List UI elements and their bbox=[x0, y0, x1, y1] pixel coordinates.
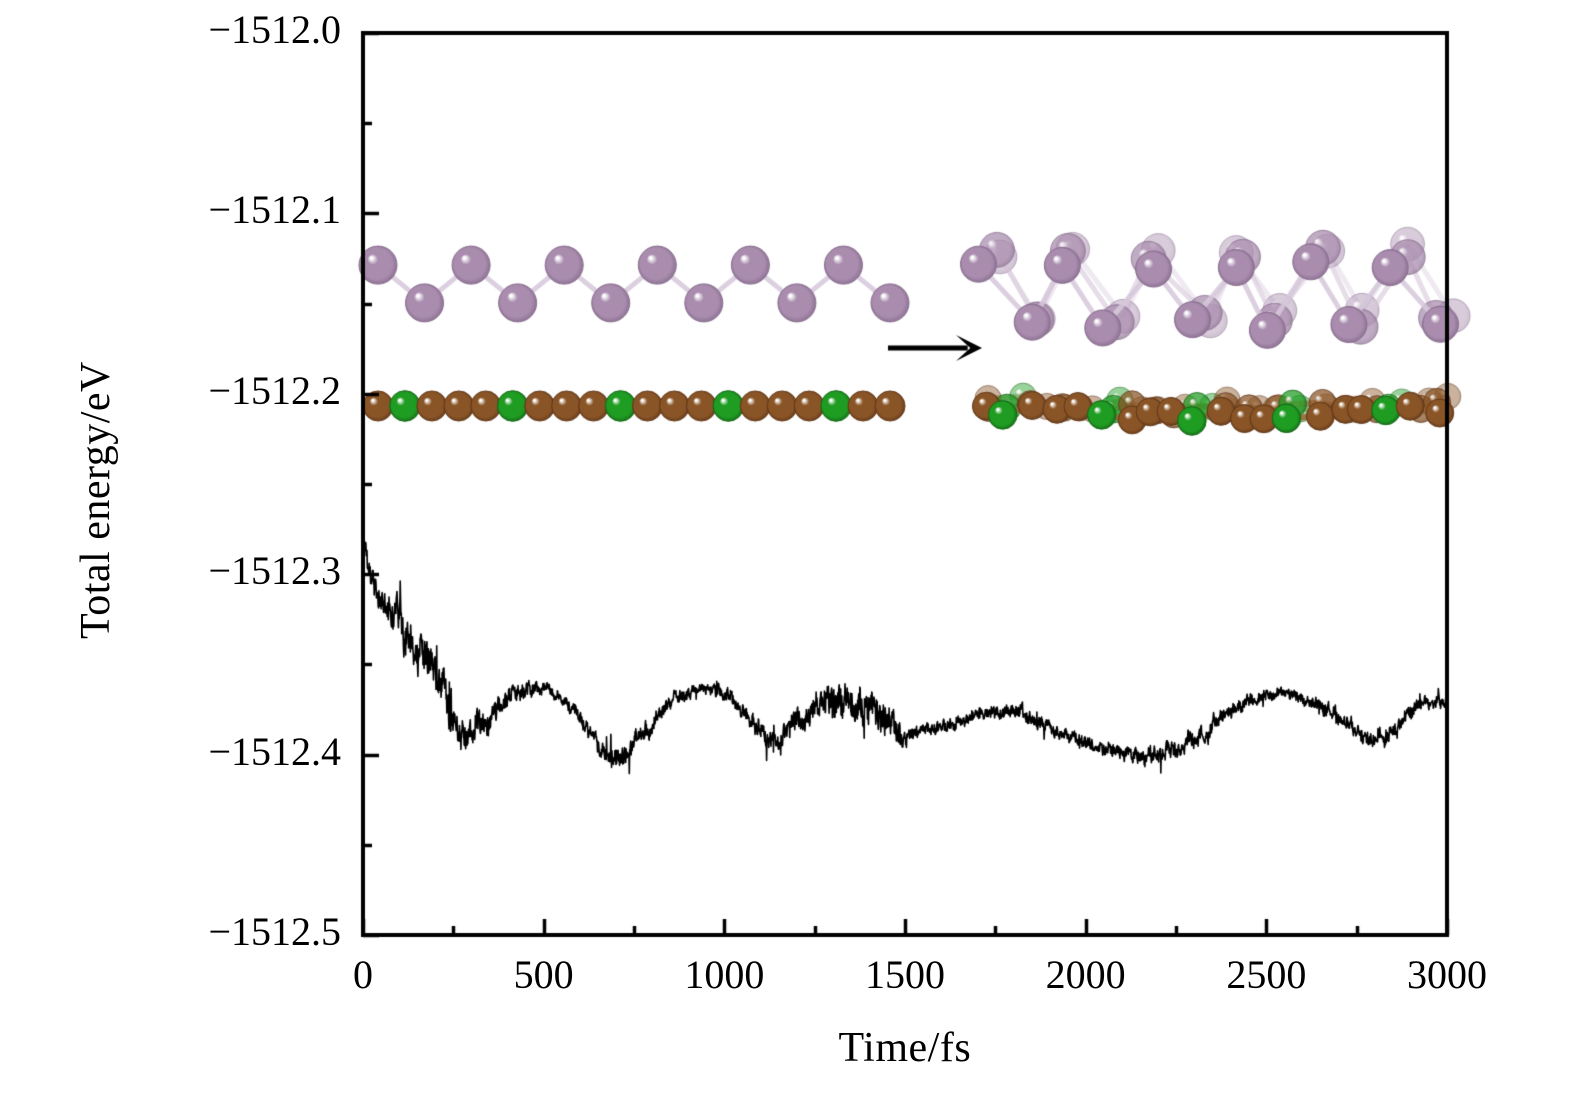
y-tick-label: −1512.4 bbox=[208, 728, 341, 775]
y-tick-label: −1512.3 bbox=[208, 547, 341, 594]
y-tick-label: −1512.5 bbox=[208, 908, 341, 955]
x-tick-label: 500 bbox=[444, 951, 644, 998]
y-tick-label: −1512.1 bbox=[208, 186, 341, 233]
figure-root: Total energy/eV Time/fs −1512.0−1512.1−1… bbox=[0, 0, 1575, 1093]
y-axis-label: Total energy/eV bbox=[72, 361, 120, 639]
x-tick-label: 0 bbox=[263, 951, 463, 998]
x-tick-label: 1500 bbox=[805, 951, 1005, 998]
x-axis-label: Time/fs bbox=[839, 1024, 972, 1072]
x-tick-label: 3000 bbox=[1347, 951, 1547, 998]
x-tick-label: 2500 bbox=[1166, 951, 1366, 998]
y-tick-label: −1512.2 bbox=[208, 367, 341, 414]
x-tick-label: 2000 bbox=[986, 951, 1186, 998]
x-tick-label: 1000 bbox=[624, 951, 824, 998]
y-tick-label: −1512.0 bbox=[208, 6, 341, 53]
